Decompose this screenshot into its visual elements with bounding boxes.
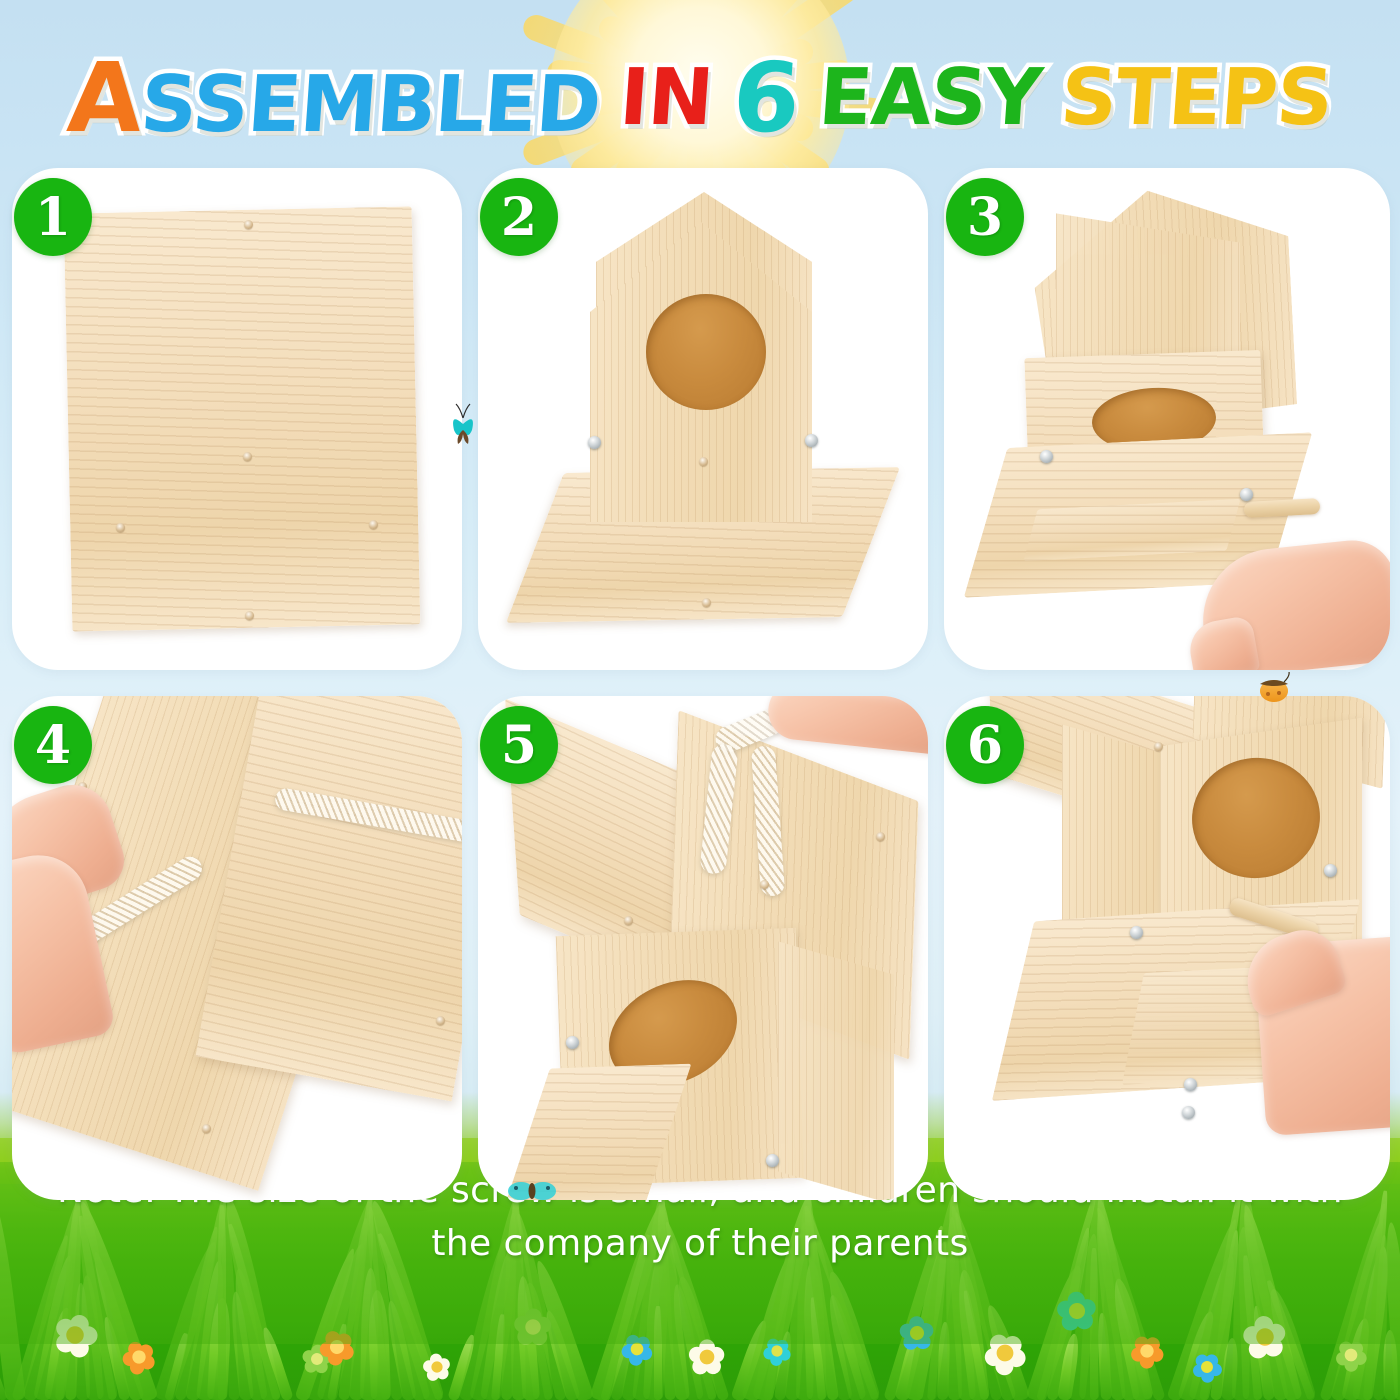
note-line-2: the company of their parents (0, 1217, 1400, 1270)
rope-hole (760, 880, 769, 889)
thumb (1186, 615, 1261, 670)
screw-hole (245, 611, 254, 620)
screw (805, 434, 818, 447)
screw (566, 1036, 579, 1049)
title-number-six: 6 (729, 50, 802, 146)
ladybug-icon (1256, 672, 1292, 702)
wood-body-side (778, 941, 894, 1200)
page-title: ASSEMBLED IN 6 EASY STEPS (0, 42, 1400, 154)
title-word-easy: EASY (816, 59, 1044, 137)
step-badge-5: 5 (480, 706, 558, 784)
screw (1184, 1078, 1197, 1091)
step-badge-1: 1 (14, 178, 92, 256)
screw-hole (244, 220, 253, 229)
screw (1130, 926, 1143, 939)
title-letter-a: A (65, 50, 145, 146)
wood-board-flat (64, 206, 421, 631)
screw (1324, 864, 1337, 877)
screw-hole (116, 523, 125, 532)
screw-hole (702, 598, 711, 607)
perch-dowel (1244, 498, 1321, 518)
title-word-in: IN (618, 59, 716, 137)
title-word-ssembled: SSEMBLED (139, 66, 603, 144)
butterfly-icon (448, 400, 478, 451)
screw (1240, 488, 1253, 501)
screw-hole (243, 452, 252, 461)
rope-hole (202, 1124, 211, 1133)
screw-hole (624, 916, 633, 925)
title-word-steps: STEPS (1058, 59, 1334, 137)
screw-hole (699, 457, 708, 466)
steps-grid: 1 2 3 4 5 6 (0, 168, 1400, 1208)
step-badge-6: 6 (946, 706, 1024, 784)
step-badge-2: 2 (480, 178, 558, 256)
step-badge-4: 4 (14, 706, 92, 784)
butterfly-icon (506, 1176, 558, 1211)
finger (765, 696, 928, 755)
screw (588, 436, 601, 449)
screw (1040, 450, 1053, 463)
entrance-hole (646, 294, 766, 410)
screw-hole (1154, 742, 1163, 751)
screw-hole (369, 520, 378, 529)
step-badge-3: 3 (946, 178, 1024, 256)
screw (1182, 1106, 1195, 1119)
screw-hole (876, 832, 885, 841)
screw (766, 1154, 779, 1167)
title-word-assembled: ASSEMBLED (68, 50, 600, 146)
rope-hole (436, 1016, 445, 1025)
